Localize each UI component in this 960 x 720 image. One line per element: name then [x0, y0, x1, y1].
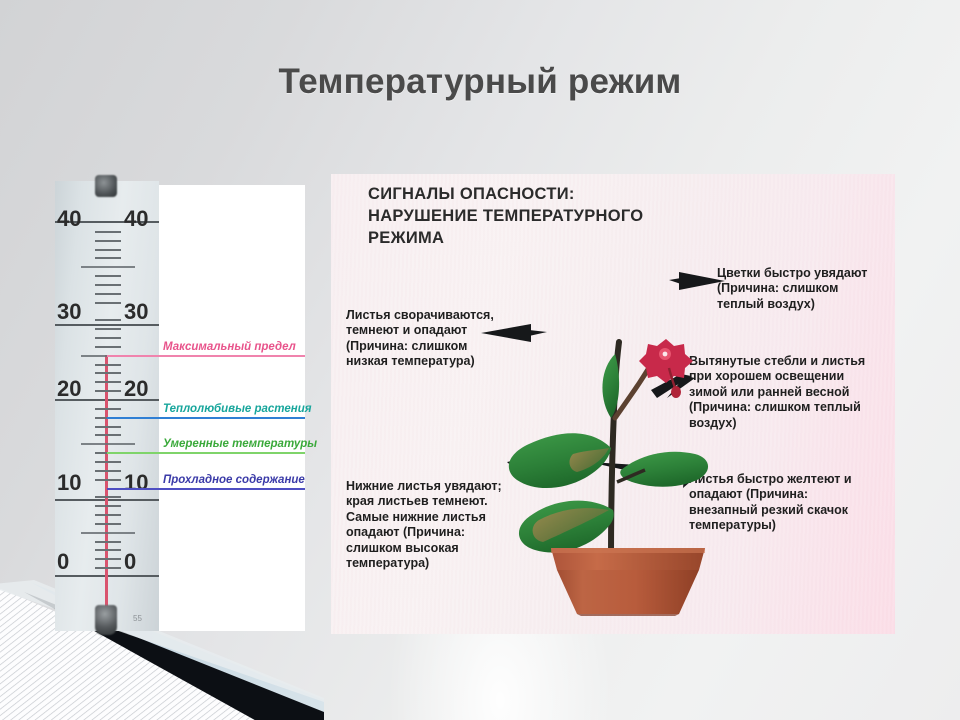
- scale-tick-12: [95, 470, 121, 472]
- thermometer-band-label-0: Максимальный предел: [163, 342, 296, 354]
- scale-tick-16: [95, 434, 121, 436]
- callout-symptom: Цветки быстро увядают: [717, 266, 867, 280]
- thermometer-band-label-2: Умеренные температуры: [163, 439, 317, 451]
- thermometer-top-cap: [95, 175, 117, 197]
- scale-number-left-30: 30: [57, 301, 81, 323]
- scale-tick-34: [95, 275, 121, 277]
- mercury-column: [105, 355, 108, 627]
- scale-number-right-30: 30: [124, 301, 148, 323]
- scale-tick-33: [95, 284, 121, 286]
- scale-tick-19: [95, 408, 121, 410]
- scale-tick-31: [95, 302, 121, 304]
- scale-tick-27: [95, 337, 121, 339]
- scale-tick-23: [95, 372, 121, 374]
- thermometer-legend-panel: Максимальный пределТеплолюбивые растения…: [159, 185, 305, 631]
- callout-symptom: Листья сворачиваются, темнеют и опадают: [346, 308, 494, 337]
- thermometer-band-line-3: [159, 488, 305, 490]
- scale-tick-35: [81, 266, 135, 268]
- scale-tick-28: [95, 328, 121, 330]
- scale-tick-22: [95, 381, 121, 383]
- scale-tick-29: [95, 319, 121, 321]
- scale-tick-5: [81, 532, 135, 534]
- thermometer-band-label-3: Прохладное содержание: [163, 475, 305, 487]
- slide-canvas: Температурный режим 40 40 30 30 20 20 10…: [0, 0, 960, 720]
- callout-lower-leaves: Нижние листья увядают; края листьев темн…: [346, 479, 516, 572]
- scale-tick-24: [95, 364, 121, 366]
- scale-tick-32: [95, 293, 121, 295]
- scale-tick-36: [95, 257, 121, 259]
- scale-tick-6: [95, 523, 121, 525]
- thermometer-band-connector-0: [107, 355, 159, 357]
- scale-tick-4: [95, 541, 121, 543]
- thermometer-band-line-1: [159, 417, 305, 419]
- scale-number-left-40: 40: [57, 208, 81, 230]
- scale-number-right-40: 40: [124, 208, 148, 230]
- scale-tick-2: [95, 558, 121, 560]
- scale-tick-7: [95, 514, 121, 516]
- poster-heading: СИГНАЛЫ ОПАСНОСТИ: НАРУШЕНИЕ ТЕМПЕРАТУРН…: [368, 184, 668, 249]
- callout-leaves-curl: Листья сворачиваются, темнеют и опадают …: [346, 308, 498, 370]
- callout-cause: (Причина: слишком низкая температура): [346, 339, 475, 368]
- thermometer-band-connector-2: [107, 452, 159, 454]
- thermometer-serial: 55: [133, 614, 142, 623]
- thermometer-band-label-1: Теплолюбивые растения: [163, 404, 312, 416]
- thermometer-band-connector-1: [107, 417, 159, 419]
- danger-signals-poster: СИГНАЛЫ ОПАСНОСТИ: НАРУШЕНИЕ ТЕМПЕРАТУРН…: [331, 174, 895, 634]
- scale-tick-37: [95, 249, 121, 251]
- scale-tick-8: [95, 505, 121, 507]
- page-title: Температурный режим: [0, 62, 960, 102]
- scale-tick-38: [95, 240, 121, 242]
- thermometer-photo: 40 40 30 30 20 20 10 10 0 0 55: [55, 181, 159, 631]
- flower-glyph: [639, 339, 693, 398]
- scale-number-right-0: 0: [124, 551, 136, 573]
- scale-tick-21: [95, 390, 121, 392]
- scale-tick-11: [95, 479, 121, 481]
- thermometer-band-line-2: [159, 452, 305, 454]
- thermometer-bulb: [95, 605, 117, 635]
- scale-number-right-10: 10: [124, 472, 148, 494]
- scale-tick-26: [95, 346, 121, 348]
- scale-number-left-20: 20: [57, 378, 81, 400]
- scale-number-right-20: 20: [124, 378, 148, 400]
- thermometer-band-connector-3: [107, 488, 159, 490]
- scale-tick-17: [95, 426, 121, 428]
- scale-number-left-10: 10: [57, 472, 81, 494]
- scale-number-left-0: 0: [57, 551, 69, 573]
- scale-rule-30: [55, 324, 159, 326]
- callout-cause: (Причина: слишком теплый воздух): [717, 281, 838, 310]
- callout-flowers-wilt: Цветки быстро увядают (Причина: слишком …: [717, 266, 882, 312]
- scale-tick-13: [95, 461, 121, 463]
- thermometer-figure: 40 40 30 30 20 20 10 10 0 0 55 Максималь…: [55, 181, 305, 631]
- scale-tick-3: [95, 549, 121, 551]
- scale-tick-1: [95, 567, 121, 569]
- thermometer-band-line-0: [159, 355, 305, 357]
- plant-in-pot-illustration: [499, 258, 733, 618]
- scale-tick-9: [95, 496, 121, 498]
- scale-tick-39: [95, 231, 121, 233]
- scale-tick-15: [81, 443, 135, 445]
